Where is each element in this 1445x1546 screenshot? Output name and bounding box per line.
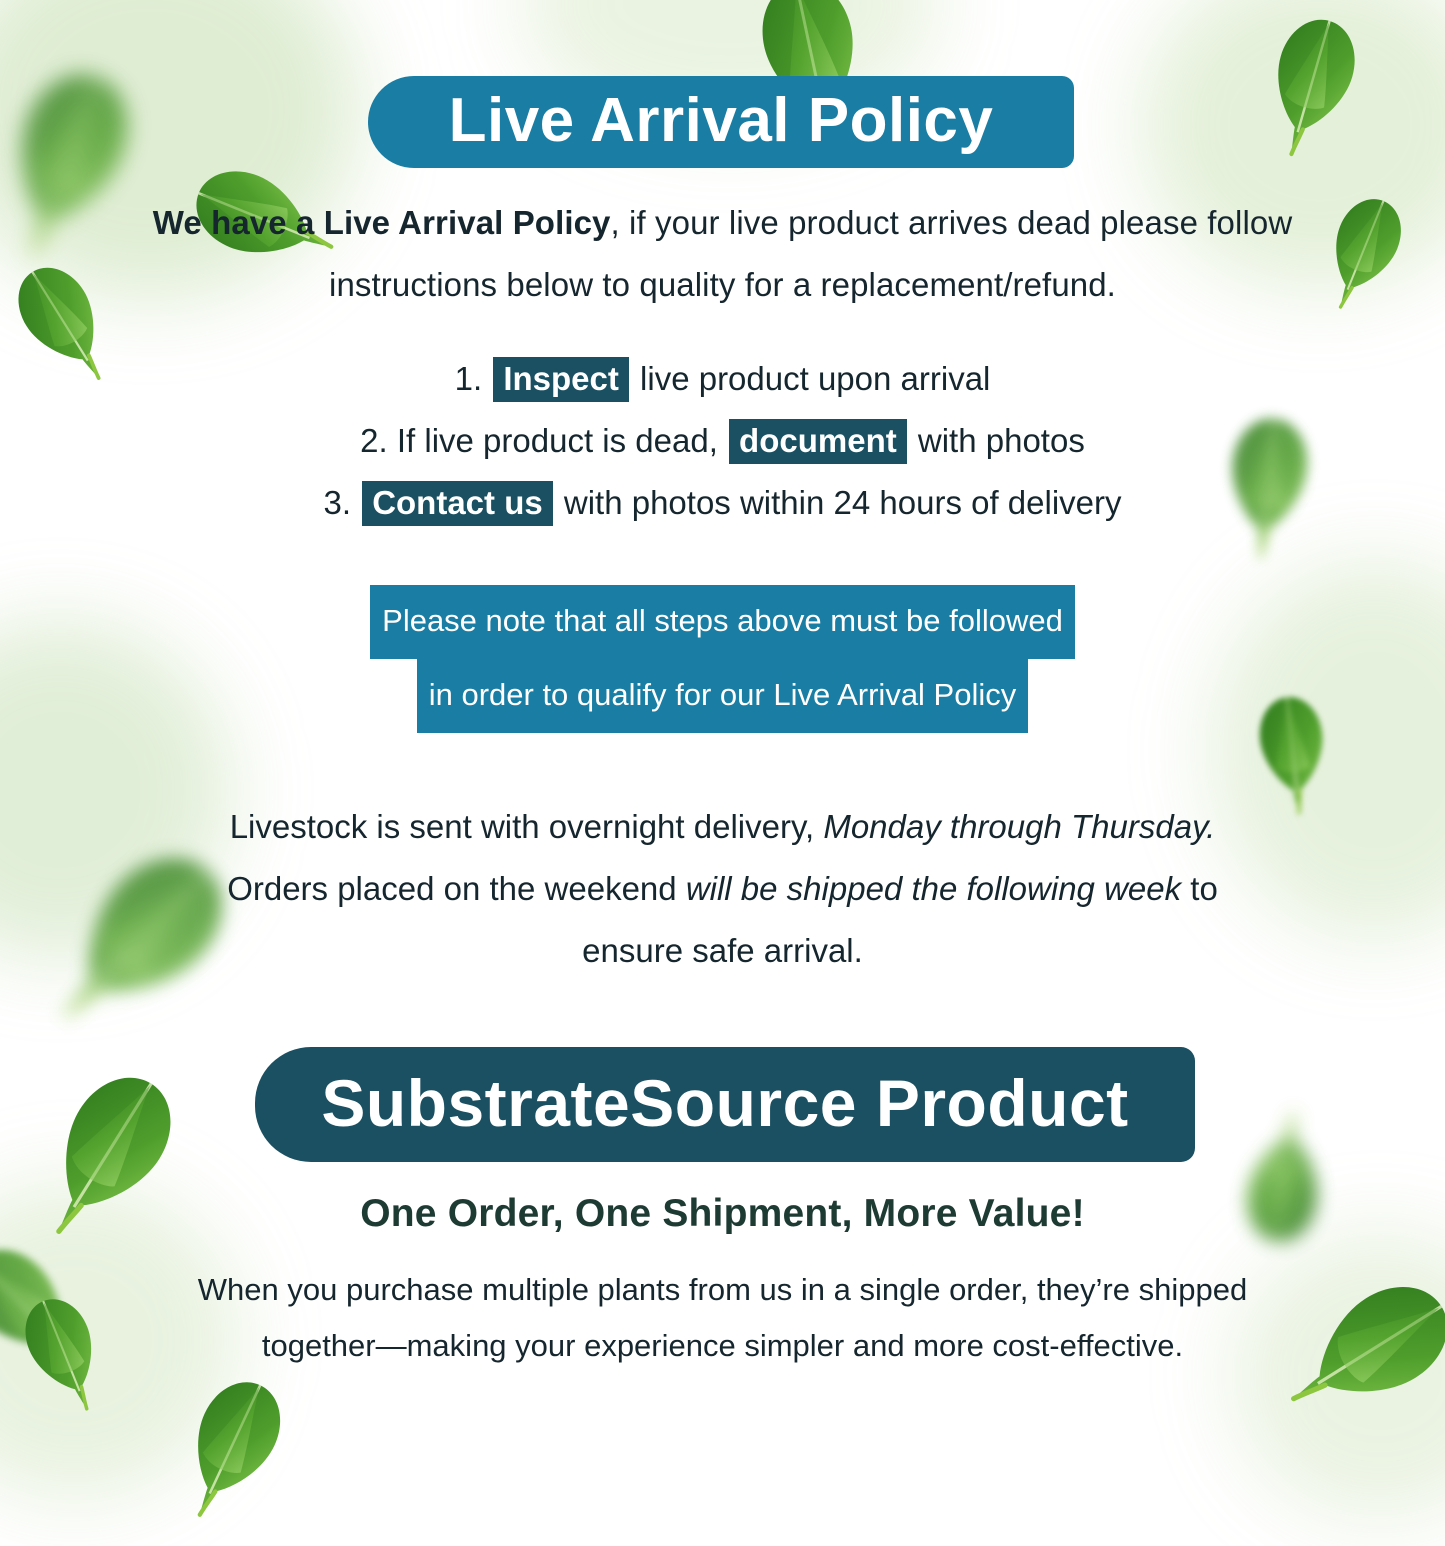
policy-step-1: 1. Inspect live product upon arrival bbox=[120, 348, 1325, 410]
shipping-line-1-italic: Monday through Thursday. bbox=[823, 808, 1215, 845]
live-arrival-policy-title: Live Arrival Policy bbox=[449, 85, 994, 156]
value-proposition-line-1: When you purchase multiple plants from u… bbox=[198, 1272, 1247, 1307]
step-1-number: 1. bbox=[455, 360, 483, 397]
step-2-before-text: If live product is dead, bbox=[397, 422, 718, 459]
live-arrival-policy-banner: Live Arrival Policy bbox=[368, 76, 1074, 168]
step-3-after-text: with photos within 24 hours of delivery bbox=[564, 484, 1122, 521]
intro-paragraph: We have a Live Arrival Policy, if your l… bbox=[130, 192, 1315, 316]
step-2-number: 2. bbox=[360, 422, 388, 459]
intro-bold-phrase: We have a Live Arrival Policy bbox=[153, 204, 611, 241]
policy-note-block: Please note that all steps above must be… bbox=[120, 585, 1325, 733]
substrate-source-product-title: SubstrateSource Product bbox=[321, 1065, 1128, 1141]
policy-note-line-2: in order to qualify for our Live Arrival… bbox=[417, 659, 1029, 733]
shipping-schedule-paragraph: Livestock is sent with overnight deliver… bbox=[180, 796, 1265, 982]
step-3-highlight-contact-us[interactable]: Contact us bbox=[362, 481, 553, 526]
step-1-after-text: live product upon arrival bbox=[640, 360, 990, 397]
policy-step-3: 3. Contact us with photos within 24 hour… bbox=[120, 472, 1325, 534]
shipping-line-2-plain: Orders placed on the weekend bbox=[227, 870, 686, 907]
step-3-number: 3. bbox=[323, 484, 351, 521]
policy-step-2: 2. If live product is dead, document wit… bbox=[120, 410, 1325, 472]
policy-note-line-1: Please note that all steps above must be… bbox=[370, 585, 1075, 659]
step-2-after-text: with photos bbox=[918, 422, 1085, 459]
substrate-source-product-banner: SubstrateSource Product bbox=[255, 1047, 1195, 1162]
step-1-highlight-inspect: Inspect bbox=[493, 357, 629, 402]
policy-steps-list: 1. Inspect live product upon arrival 2. … bbox=[120, 348, 1325, 534]
value-proposition-line-2: together—making your experience simpler … bbox=[262, 1328, 1183, 1363]
value-proposition-subheading: One Order, One Shipment, More Value! bbox=[180, 1192, 1265, 1236]
shipping-line-1-plain: Livestock is sent with overnight deliver… bbox=[230, 808, 824, 845]
shipping-line-2-italic: will be shipped the following week bbox=[686, 870, 1181, 907]
policy-page: Live Arrival Policy We have a Live Arriv… bbox=[0, 0, 1445, 1445]
step-2-highlight-document: document bbox=[729, 419, 907, 464]
value-proposition-body: When you purchase multiple plants from u… bbox=[150, 1262, 1295, 1374]
